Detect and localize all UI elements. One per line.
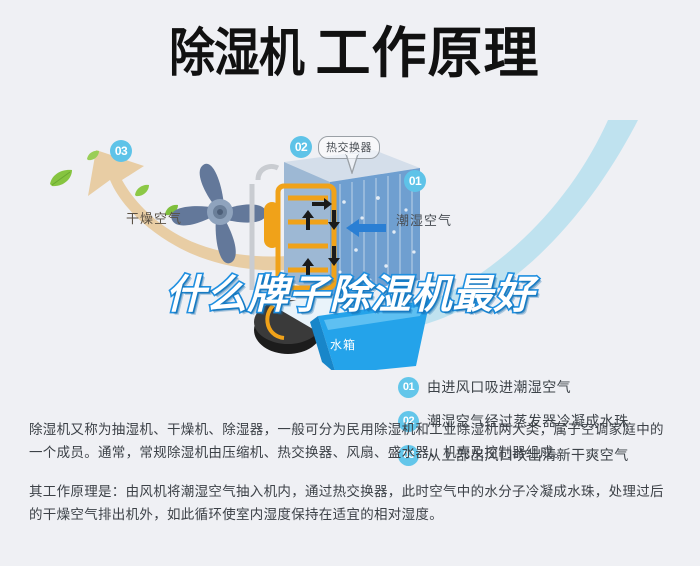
- body-paragraph-1: 除湿机又称为抽湿机、干燥机、除湿器，一般可分为民用除湿机和工业除湿机两大类，属于…: [29, 418, 677, 464]
- moist-air-label: 潮湿空气: [396, 210, 452, 229]
- diagram-marker-02: 02: [290, 136, 312, 158]
- water-tank-label: 水箱: [330, 336, 356, 353]
- leaf-icon: [134, 184, 150, 197]
- diagram-marker-01: 01: [404, 170, 426, 192]
- leaf-icon: [86, 150, 100, 161]
- legend-item-text: 由进风口吸进潮湿空气: [427, 377, 571, 397]
- page-title: 除湿机工作原理: [0, 26, 700, 106]
- legend-item: 01 由进风口吸进潮湿空气: [398, 370, 688, 404]
- article-body: 除湿机又称为抽湿机、干燥机、除湿器，一般可分为民用除湿机和工业除湿机两大类，属于…: [29, 418, 677, 526]
- page-title-part2: 工作原理: [316, 26, 540, 81]
- legend-item-number: 01: [398, 377, 419, 398]
- intake-arrow-icon: [346, 218, 386, 238]
- body-paragraph-2: 其工作原理是：由风机将潮湿空气抽入机内，通过热交换器，此时空气中的水分子冷凝成水…: [29, 480, 677, 526]
- dry-air-label: 干燥空气: [126, 208, 182, 227]
- diagram-marker-03: 03: [110, 140, 132, 162]
- callout-tail-icon: [345, 154, 359, 174]
- watermark-text: 什么牌子除湿机最好: [0, 262, 700, 320]
- dehumidifier-principle-diagram: 03 02 01 热交换器 干燥空气 潮湿空气 水箱 01 由进风口吸进潮湿空气…: [0, 118, 700, 390]
- leaf-icon: [48, 168, 74, 188]
- page-title-part1: 除湿机: [170, 28, 305, 80]
